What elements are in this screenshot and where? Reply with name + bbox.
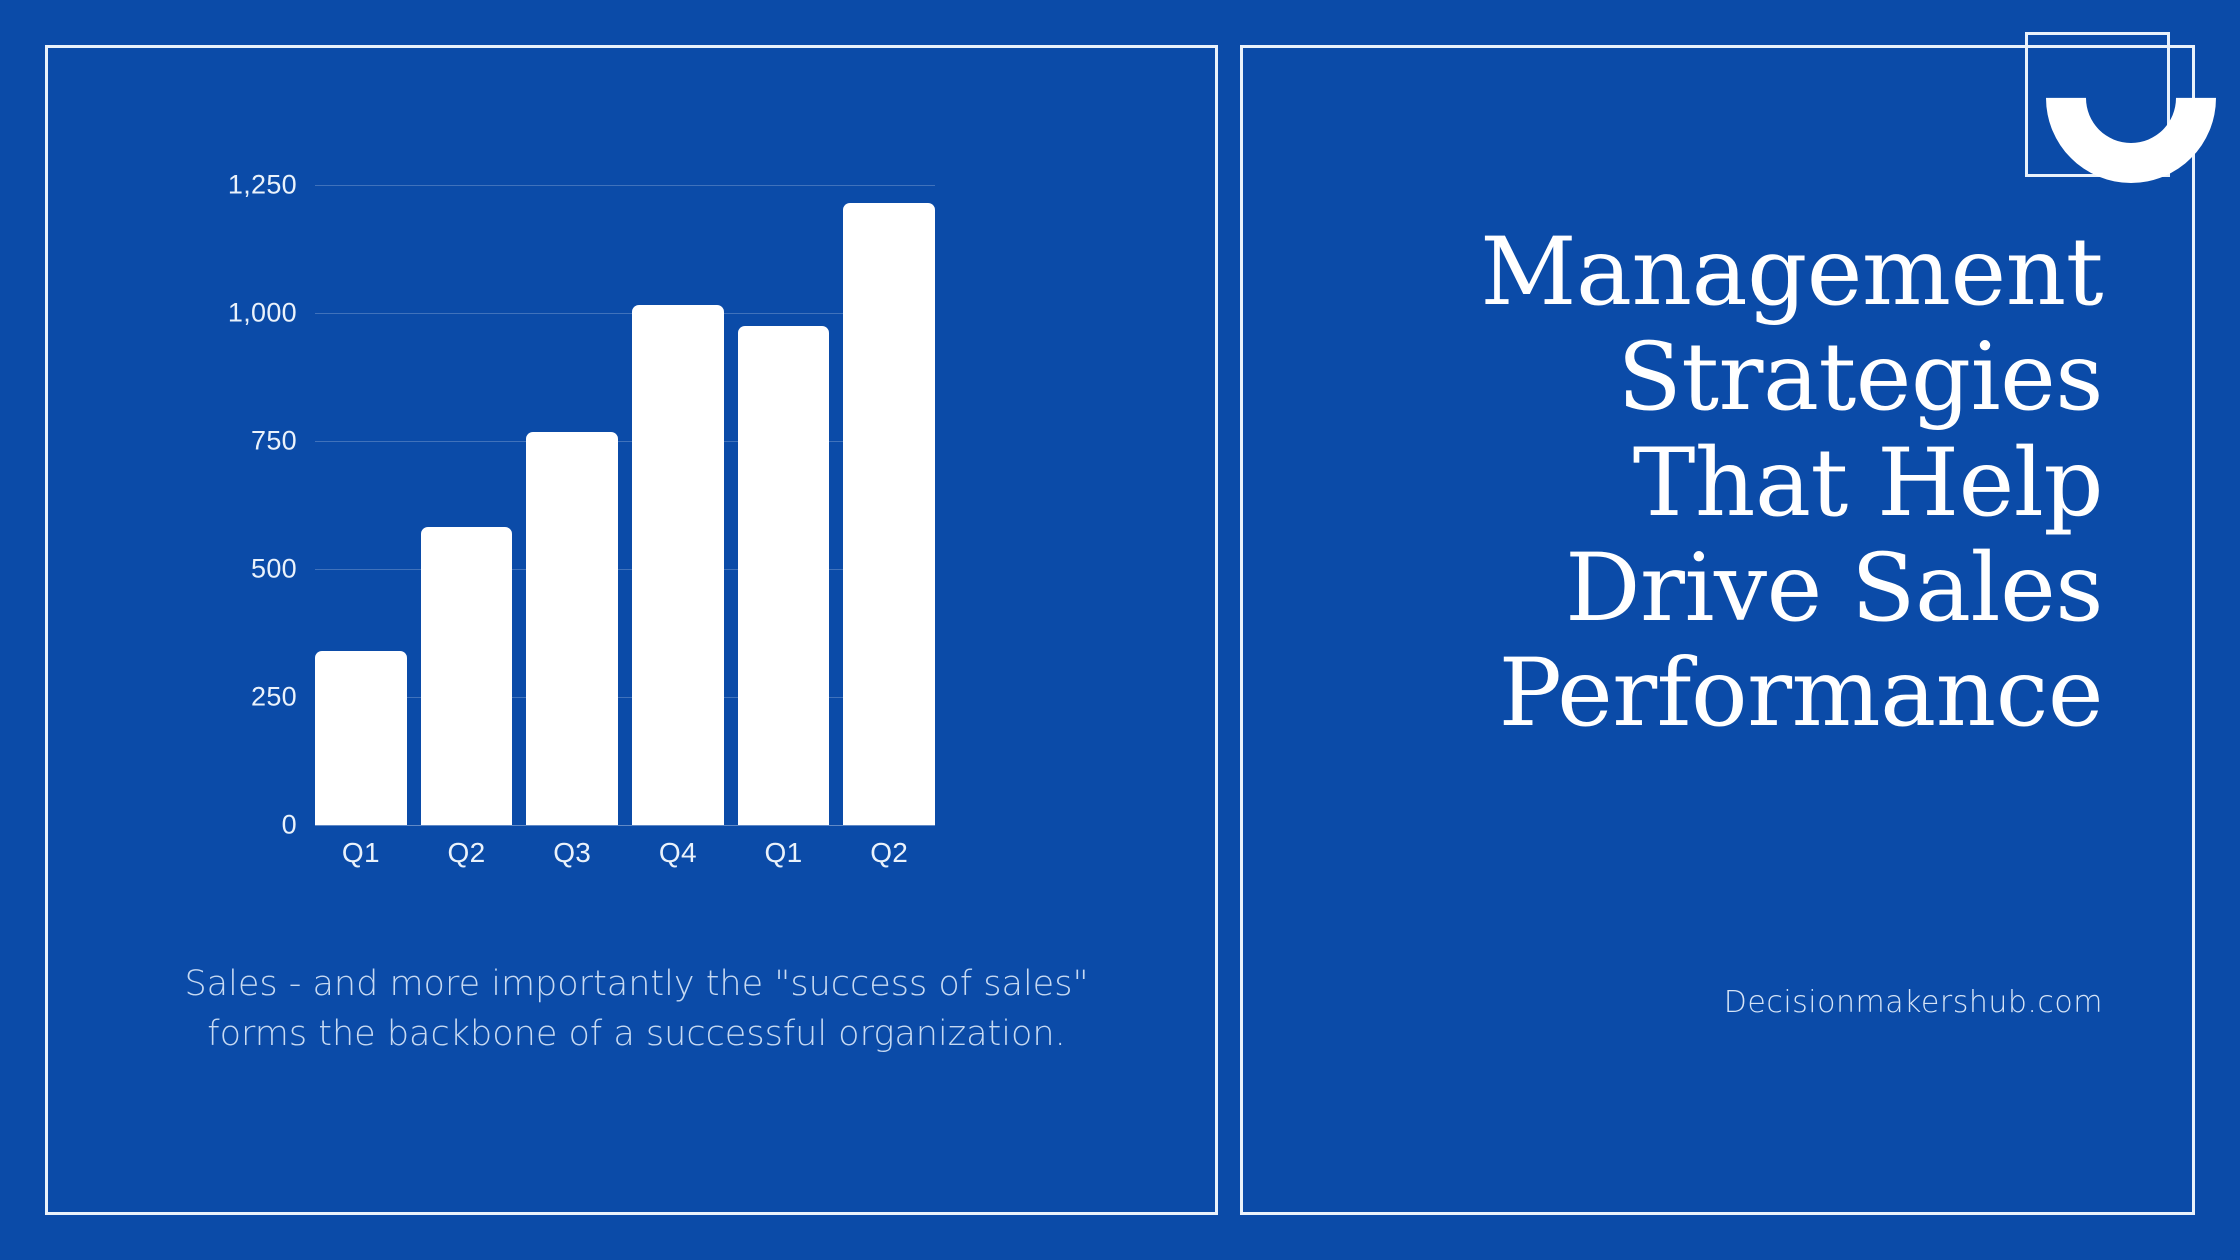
chart-caption: Sales - and more importantly the "succes… <box>125 960 1148 1059</box>
left-panel: 02505007501,0001,250 Q1Q2Q3Q4Q1Q2 Sales … <box>45 45 1218 1215</box>
y-axis-tick-750: 750 <box>251 426 297 457</box>
y-axis-tick-0: 0 <box>282 810 297 841</box>
title-line-3: That Help <box>1313 431 2103 536</box>
chart-plot-area: 02505007501,0001,250 Q1Q2Q3Q4Q1Q2 <box>315 185 935 825</box>
title-line-4: Drive Sales <box>1313 536 2103 641</box>
title-line-5: Performance <box>1313 641 2103 746</box>
bar-Q1-0 <box>315 651 407 825</box>
bar-column <box>738 185 830 825</box>
bar-column <box>421 185 513 825</box>
x-axis-label-4: Q1 <box>738 837 830 869</box>
y-axis-tick-500: 500 <box>251 554 297 585</box>
x-axis-label-5: Q2 <box>843 837 935 869</box>
bar-column <box>632 185 724 825</box>
x-axis-label-3: Q4 <box>632 837 724 869</box>
brand-website: Decisionmakershub.com <box>1313 985 2103 1020</box>
y-axis-tick-1250: 1,250 <box>228 170 297 201</box>
x-axis-label-1: Q2 <box>421 837 513 869</box>
logo-container <box>2025 32 2170 177</box>
x-axis-label-2: Q3 <box>526 837 618 869</box>
y-axis-tick-250: 250 <box>251 682 297 713</box>
bar-Q3-2 <box>526 432 618 825</box>
gridline-0 <box>315 825 935 826</box>
bar-Q4-3 <box>632 305 724 825</box>
title-line-1: Management <box>1313 220 2103 325</box>
chart-bars <box>315 185 935 825</box>
page-title: Management Strategies That Help Drive Sa… <box>1313 220 2103 746</box>
bar-chart: 02505007501,0001,250 Q1Q2Q3Q4Q1Q2 <box>205 185 1075 885</box>
bar-Q2-1 <box>421 527 513 825</box>
caption-line-2: forms the backbone of a successful organ… <box>125 1010 1148 1060</box>
bar-Q2-5 <box>843 203 935 825</box>
caption-line-1: Sales - and more importantly the "succes… <box>125 960 1148 1010</box>
bar-column <box>315 185 407 825</box>
bar-column <box>526 185 618 825</box>
bar-column <box>843 185 935 825</box>
y-axis-tick-1000: 1,000 <box>228 298 297 329</box>
right-panel: Management Strategies That Help Drive Sa… <box>1240 45 2195 1215</box>
bar-Q1-4 <box>738 326 830 825</box>
chart-x-axis-labels: Q1Q2Q3Q4Q1Q2 <box>315 837 935 869</box>
crescent-arc-logo-icon <box>2011 0 2240 218</box>
x-axis-label-0: Q1 <box>315 837 407 869</box>
title-line-2: Strategies <box>1313 325 2103 430</box>
